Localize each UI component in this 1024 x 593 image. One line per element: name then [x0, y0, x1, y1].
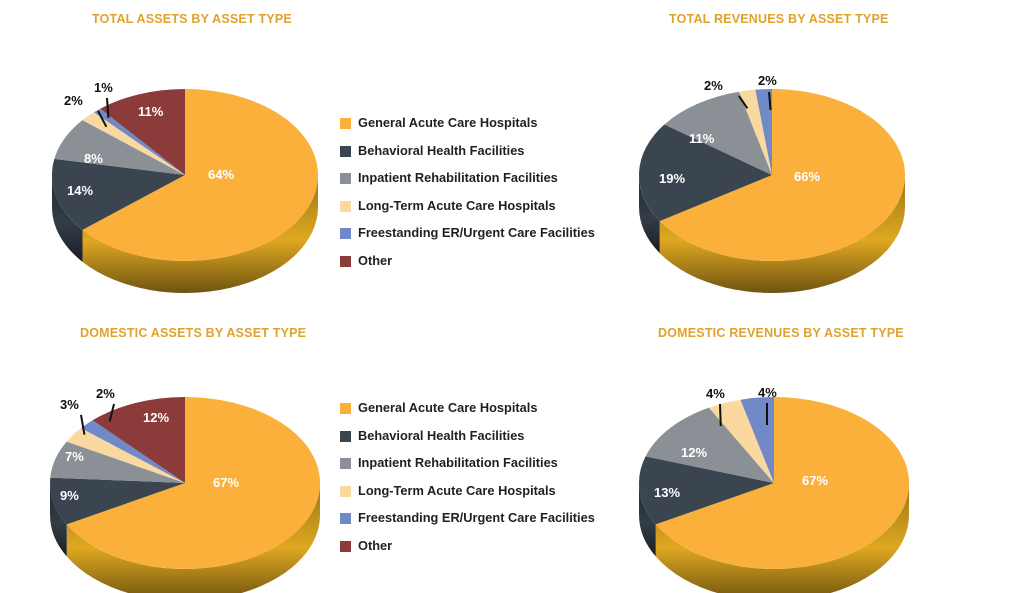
legend-swatch-icon — [340, 173, 351, 184]
pie-data-label: 11% — [689, 132, 714, 145]
legend-swatch-icon — [340, 228, 351, 239]
pie-chart-domestic-assets: 67%9%7%3%2%12% — [35, 390, 335, 593]
pie-chart-total-assets: 64%14%8%2%1%11% — [40, 80, 340, 295]
pie-data-label: 3% — [60, 398, 79, 411]
pie-data-label: 19% — [659, 172, 685, 185]
legend-swatch-icon — [340, 431, 351, 442]
pie-top-faces — [52, 89, 318, 261]
chart-panel-domestic-assets: DOMESTIC ASSETS BY ASSET TYPE 67%9%7%3%2… — [0, 300, 512, 593]
legend-swatch-icon — [340, 458, 351, 469]
legend-item-label: Behavioral Health Facilities — [358, 145, 524, 158]
legend-swatch-icon — [340, 541, 351, 552]
pie-svg — [622, 80, 922, 295]
pie-label-leader-line — [766, 403, 768, 425]
pie-data-label: 13% — [654, 486, 680, 499]
pie-data-label: 67% — [802, 474, 828, 487]
legend-swatch-icon — [340, 403, 351, 414]
chart-panel-total-assets: TOTAL ASSETS BY ASSET TYPE 64%14%8%2%1%1… — [0, 0, 512, 300]
legend-item-label: Other — [358, 255, 392, 268]
pie-data-label: 2% — [64, 94, 83, 107]
pie-data-label: 12% — [143, 411, 169, 424]
legend-swatch-icon — [340, 513, 351, 524]
pie-top-faces — [639, 397, 909, 569]
pie-data-label: 1% — [94, 81, 113, 94]
pie-data-label: 8% — [84, 152, 103, 165]
pie-data-label: 4% — [706, 387, 725, 400]
pie-data-label: 14% — [67, 184, 93, 197]
pie-data-label: 64% — [208, 168, 234, 181]
chart-panel-domestic-revenues: DOMESTIC REVENUES BY ASSET TYPE 67%13%12… — [512, 300, 1024, 593]
pie-data-label: 67% — [213, 476, 239, 489]
pie-data-label: 2% — [96, 387, 115, 400]
legend-swatch-icon — [340, 201, 351, 212]
legend-swatch-icon — [340, 146, 351, 157]
chart-title-domestic-revenues: DOMESTIC REVENUES BY ASSET TYPE — [658, 326, 904, 340]
infographic-page: TOTAL ASSETS BY ASSET TYPE 64%14%8%2%1%1… — [0, 0, 1024, 593]
pie-data-label: 2% — [704, 79, 723, 92]
legend-item-label: Other — [358, 540, 392, 553]
pie-data-label: 12% — [681, 446, 707, 459]
pie-data-label: 9% — [60, 489, 79, 502]
legend-item-label: General Acute Care Hospitals — [358, 117, 537, 130]
pie-data-label: 7% — [65, 450, 84, 463]
pie-chart-total-revenues: 66%19%11%2%2% — [622, 80, 922, 295]
pie-data-label: 66% — [794, 170, 820, 183]
chart-title-total-revenues: TOTAL REVENUES BY ASSET TYPE — [669, 12, 889, 26]
legend-swatch-icon — [340, 256, 351, 267]
pie-data-label: 4% — [758, 386, 777, 399]
chart-panel-total-revenues: TOTAL REVENUES BY ASSET TYPE 66%19%11%2%… — [512, 0, 1024, 300]
pie-data-label: 2% — [758, 74, 777, 87]
legend-swatch-icon — [340, 486, 351, 497]
pie-chart-domestic-revenues: 67%13%12%4%4% — [624, 390, 924, 593]
pie-data-label: 11% — [138, 105, 163, 118]
legend-item-label: Behavioral Health Facilities — [358, 430, 524, 443]
chart-title-domestic-assets: DOMESTIC ASSETS BY ASSET TYPE — [80, 326, 306, 340]
legend-item-label: General Acute Care Hospitals — [358, 402, 537, 415]
pie-top-faces — [50, 397, 320, 569]
legend-swatch-icon — [340, 118, 351, 129]
chart-title-total-assets: TOTAL ASSETS BY ASSET TYPE — [92, 12, 292, 26]
